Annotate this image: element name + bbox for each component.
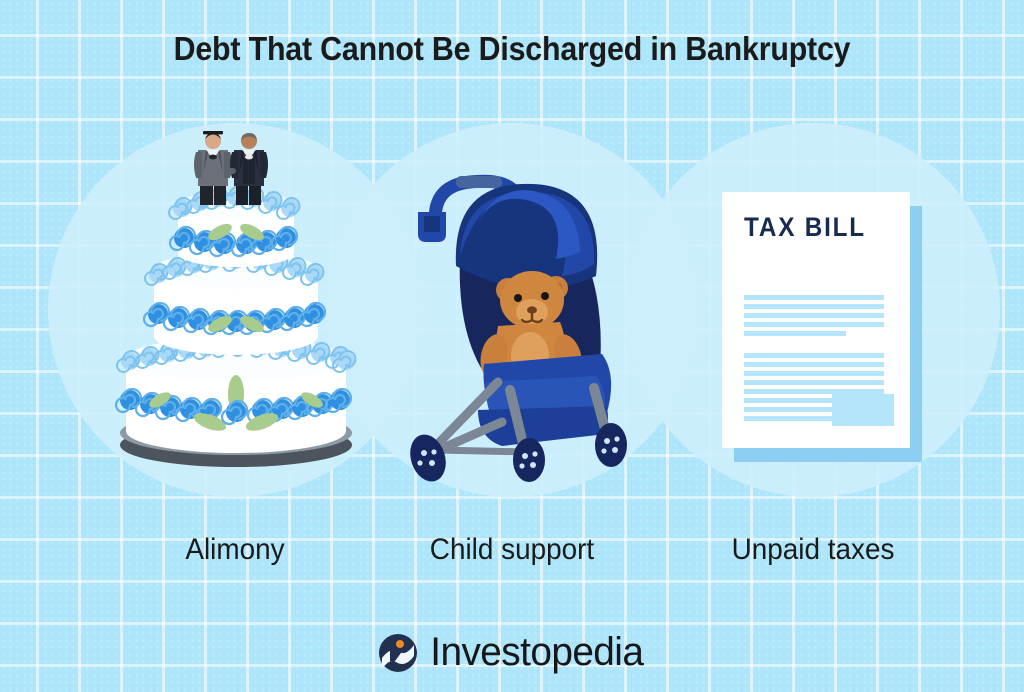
item-label-child-support: Child support bbox=[391, 533, 633, 567]
tax-bill-line bbox=[744, 371, 884, 376]
tax-bill-amount-box bbox=[832, 394, 894, 426]
tax-bill-line bbox=[744, 313, 884, 318]
tax-bill-icon: TAX BILL bbox=[722, 192, 922, 462]
investopedia-logo-icon bbox=[378, 633, 418, 673]
tax-bill-line bbox=[744, 331, 846, 336]
tax-bill-heading: TAX BILL bbox=[744, 212, 866, 243]
wedding-cake-icon bbox=[88, 128, 384, 473]
brand-name: Investopedia bbox=[430, 630, 643, 675]
stroller-seat-cushion bbox=[478, 354, 611, 446]
tax-bill-line bbox=[744, 304, 884, 309]
baby-stroller-icon bbox=[398, 160, 654, 482]
tax-bill-line bbox=[744, 295, 884, 300]
tax-bill-line bbox=[744, 416, 840, 421]
page-title: Debt That Cannot Be Discharged in Bankru… bbox=[41, 30, 983, 68]
tax-bill-line bbox=[744, 353, 884, 358]
item-label-alimony: Alimony bbox=[114, 533, 356, 567]
tax-bill-page: TAX BILL bbox=[722, 192, 910, 448]
brand-logo: Investopedia bbox=[0, 630, 1024, 675]
infographic-canvas: Debt That Cannot Be Discharged in Bankru… bbox=[0, 0, 1024, 692]
item-label-unpaid-taxes: Unpaid taxes bbox=[692, 533, 934, 567]
tax-bill-line bbox=[744, 380, 884, 385]
tax-bill-line bbox=[744, 362, 884, 367]
tax-bill-line bbox=[744, 322, 884, 327]
